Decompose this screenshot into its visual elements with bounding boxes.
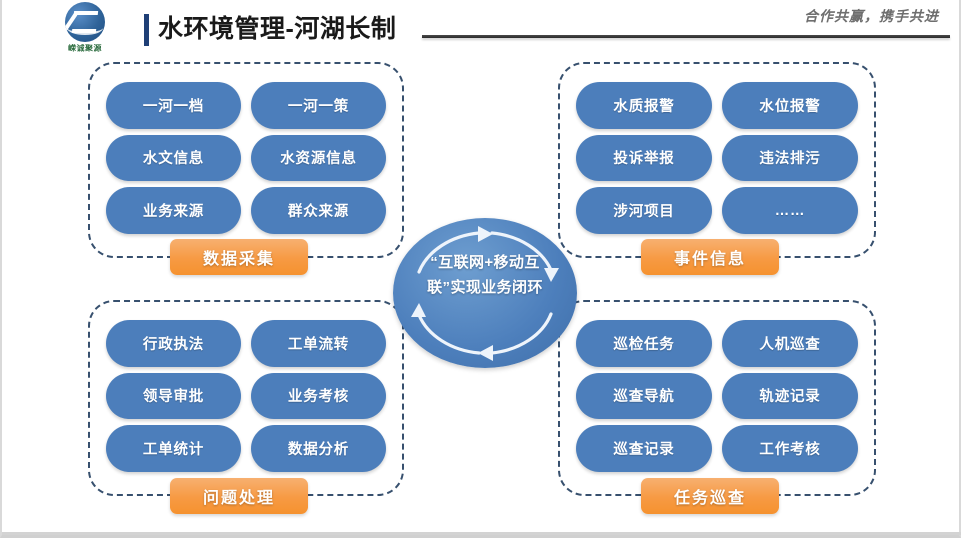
pill-item[interactable]: 领导审批 [106,373,241,420]
header-slogan: 合作共赢，携手共进 [804,6,939,26]
pill-item[interactable]: …… [722,187,858,234]
slide-header: 嵘诚聚源 水环境管理-河湖长制 合作共赢，携手共进 [2,0,961,58]
logo-company-name: 嵘诚聚源 [68,44,102,54]
pill-item[interactable]: 工单流转 [251,320,386,367]
pill-item[interactable]: 巡查导航 [576,373,712,420]
pill-grid-event-information: 水质报警 水位报警 投诉举报 违法排污 涉河项目 …… [560,64,874,256]
pill-item[interactable]: 水资源信息 [251,135,386,182]
group-task-inspection: 巡检任务 人机巡查 巡查导航 轨迹记录 巡查记录 工作考核 [558,300,876,496]
pill-item[interactable]: 水文信息 [106,135,241,182]
pill-item[interactable]: 数据分析 [251,425,386,472]
pill-item[interactable]: 违法排污 [722,135,858,182]
center-cycle-node: “互联网+移动互联”实现业务闭环 [393,218,577,368]
pill-item[interactable]: 一河一策 [251,82,386,129]
group-label-problem-handling[interactable]: 问题处理 [170,478,308,514]
slide-bottom-edge [2,532,961,535]
pill-item[interactable]: 群众来源 [251,187,386,234]
pill-item[interactable]: 一河一档 [106,82,241,129]
pill-grid-problem-handling: 行政执法 工单流转 领导审批 业务考核 工单统计 数据分析 [90,302,402,494]
pill-item[interactable]: 巡查记录 [576,425,712,472]
pill-item[interactable]: 水位报警 [722,82,858,129]
pill-grid-data-collection: 一河一档 一河一策 水文信息 水资源信息 业务来源 群众来源 [90,64,402,256]
pill-item[interactable]: 业务考核 [251,373,386,420]
logo-swoosh-icon [67,21,103,35]
group-problem-handling: 行政执法 工单流转 领导审批 业务考核 工单统计 数据分析 [88,300,404,496]
logo-emblem-icon [65,2,105,42]
pill-item[interactable]: 涉河项目 [576,187,712,234]
page-title: 水环境管理-河湖长制 [158,13,396,45]
company-logo: 嵘诚聚源 [48,2,122,56]
slide-canvas: 嵘诚聚源 水环境管理-河湖长制 合作共赢，携手共进 一河一档 一河一策 水文信息… [0,0,961,538]
center-cycle-text: “互联网+移动互联”实现业务闭环 [411,250,559,300]
pill-item[interactable]: 工作考核 [722,425,858,472]
group-label-data-collection[interactable]: 数据采集 [170,239,308,275]
pill-grid-task-inspection: 巡检任务 人机巡查 巡查导航 轨迹记录 巡查记录 工作考核 [560,302,874,494]
pill-item[interactable]: 水质报警 [576,82,712,129]
pill-item[interactable]: 工单统计 [106,425,241,472]
group-event-information: 水质报警 水位报警 投诉举报 违法排污 涉河项目 …… [558,62,876,258]
pill-item[interactable]: 巡检任务 [576,320,712,367]
header-divider-line [422,35,950,38]
group-data-collection: 一河一档 一河一策 水文信息 水资源信息 业务来源 群众来源 [88,62,404,258]
pill-item[interactable]: 轨迹记录 [722,373,858,420]
group-label-task-inspection[interactable]: 任务巡查 [641,478,779,514]
pill-item[interactable]: 业务来源 [106,187,241,234]
group-label-event-information[interactable]: 事件信息 [641,239,779,275]
title-accent-bar [144,14,149,46]
pill-item[interactable]: 投诉举报 [576,135,712,182]
pill-item[interactable]: 行政执法 [106,320,241,367]
pill-item[interactable]: 人机巡查 [722,320,858,367]
